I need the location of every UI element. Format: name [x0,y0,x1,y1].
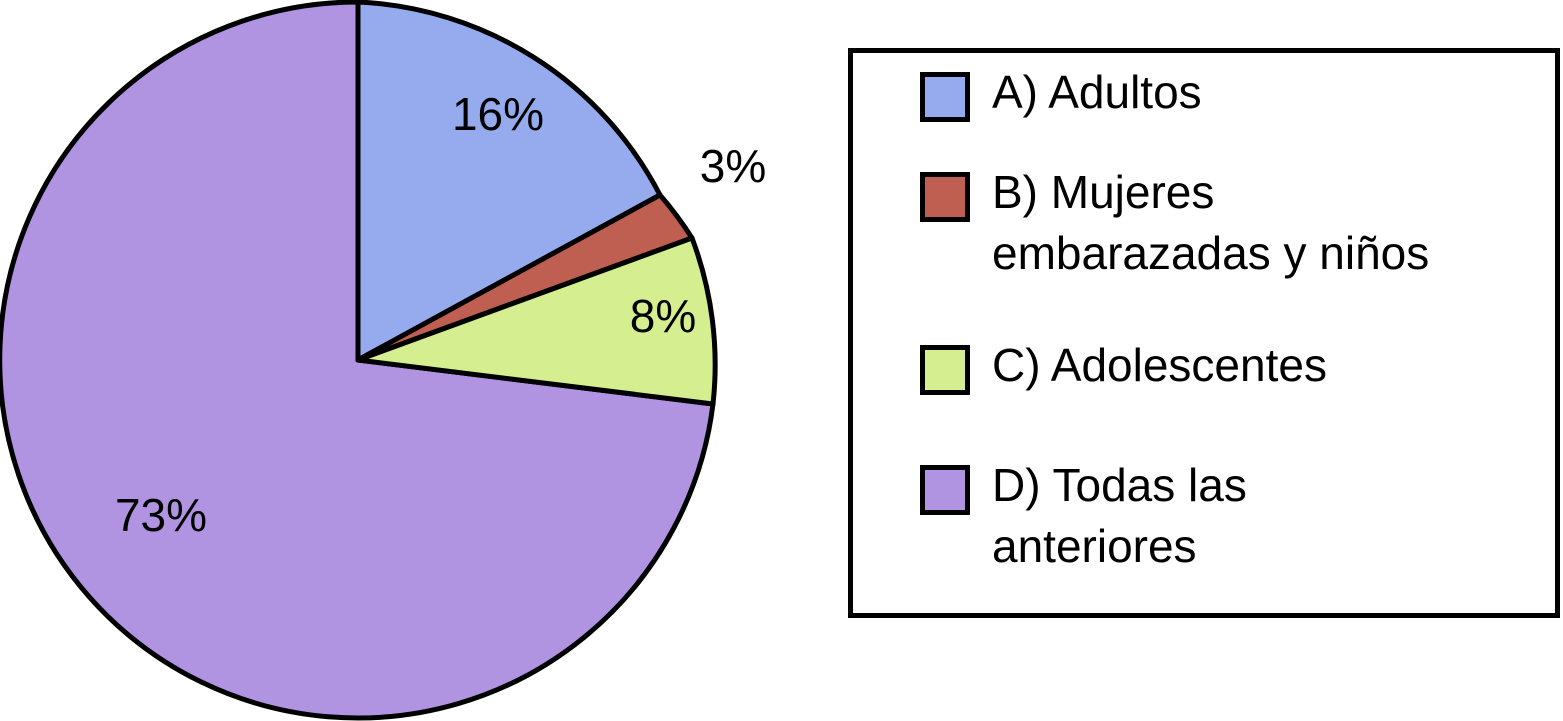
legend-swatch-d-icon [920,465,970,515]
legend-item-c[interactable]: C) Adolescentes [920,345,1327,396]
legend-swatch-b-icon [920,172,970,222]
pie-label-c: 8% [630,290,696,342]
pie-label-a: 16% [452,88,544,140]
legend-item-a[interactable]: A) Adultos [920,72,1202,123]
legend-swatch-c-icon [920,345,970,395]
legend-item-d[interactable]: D) Todas las anteriores [920,465,1247,576]
pie-label-b: 3% [700,140,766,192]
legend-label-b: B) Mujeres embarazadas y niños [992,162,1429,283]
legend-label-a: A) Adultos [992,62,1202,123]
legend-item-b[interactable]: B) Mujeres embarazadas y niños [920,172,1429,283]
legend-swatch-a-icon [920,72,970,122]
pie-chart-figure: 16% 3% 8% 73% A) Adultos B) Mujeres emba… [0,0,1563,721]
chart-legend: A) Adultos B) Mujeres embarazadas y niño… [848,48,1560,618]
legend-label-d: D) Todas las anteriores [992,455,1247,576]
pie-label-d: 73% [115,489,207,541]
pie-chart-svg: 16% 3% 8% 73% [0,0,800,721]
pie-chart-area: 16% 3% 8% 73% [0,0,800,721]
legend-label-c: C) Adolescentes [992,335,1327,396]
